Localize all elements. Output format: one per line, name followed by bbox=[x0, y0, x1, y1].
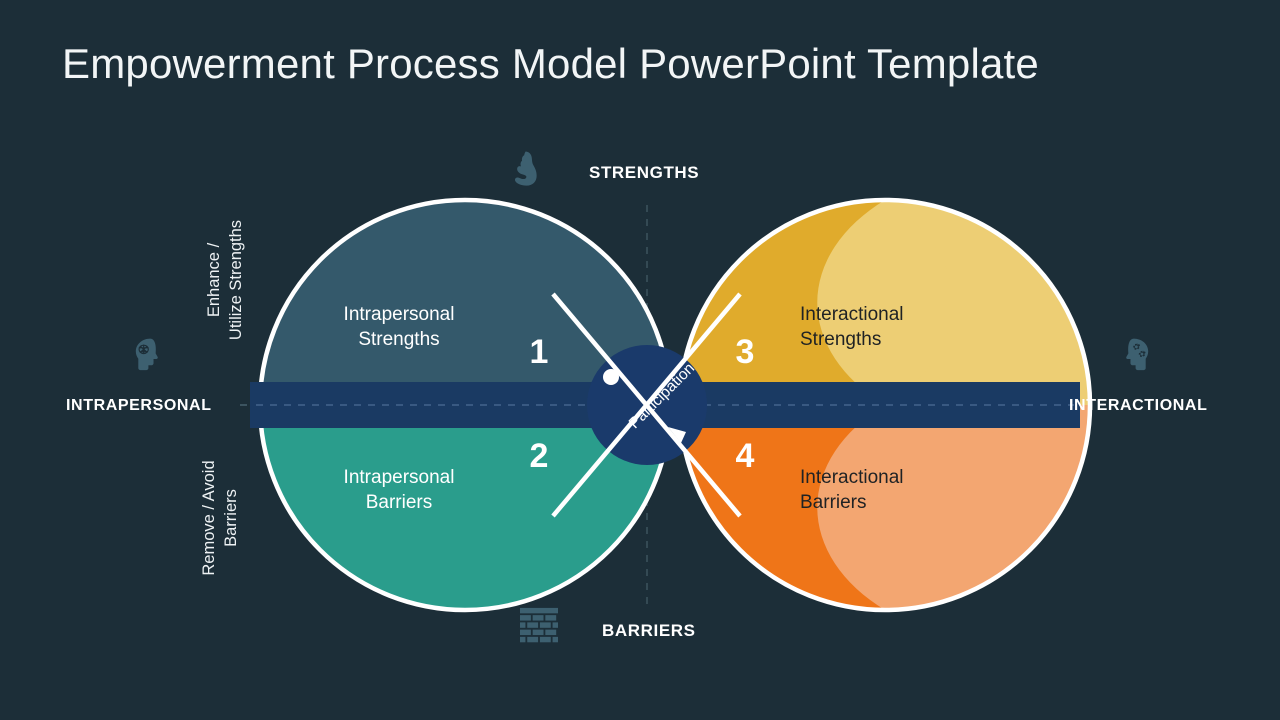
gear-head-icon bbox=[1118, 334, 1160, 381]
pole-label-bottom: BARRIERS bbox=[602, 621, 696, 641]
quadrant-3-label: Interactional Strengths bbox=[800, 302, 996, 352]
flow-start-dot bbox=[603, 369, 619, 385]
brick-wall-icon bbox=[519, 607, 559, 650]
quadrant-1-label: Intrapersonal Strengths bbox=[301, 302, 497, 352]
pole-label-top: STRENGTHS bbox=[589, 163, 699, 183]
brain-head-icon bbox=[124, 334, 166, 381]
infinity-process-diagram bbox=[0, 0, 1280, 720]
slide-canvas: Empowerment Process Model PowerPoint Tem… bbox=[0, 0, 1280, 720]
quadrant-2-label: Intrapersonal Barriers bbox=[301, 465, 497, 515]
quadrant-4-number: 4 bbox=[725, 437, 765, 476]
quadrant-2-number: 2 bbox=[519, 437, 559, 476]
axis-label-left: INTRAPERSONAL bbox=[66, 397, 212, 415]
annotation-remove-barriers: Remove / Avoid Barriers bbox=[198, 418, 242, 618]
flexed-bicep-icon bbox=[512, 148, 548, 195]
quadrant-1-number: 1 bbox=[519, 333, 559, 372]
axis-label-right: INTERACTIONAL bbox=[1069, 397, 1207, 415]
quadrant-4-label: Interactional Barriers bbox=[800, 465, 996, 515]
annotation-enhance-strengths: Enhance / Utilize Strengths bbox=[203, 185, 247, 375]
quadrant-3-number: 3 bbox=[725, 333, 765, 372]
